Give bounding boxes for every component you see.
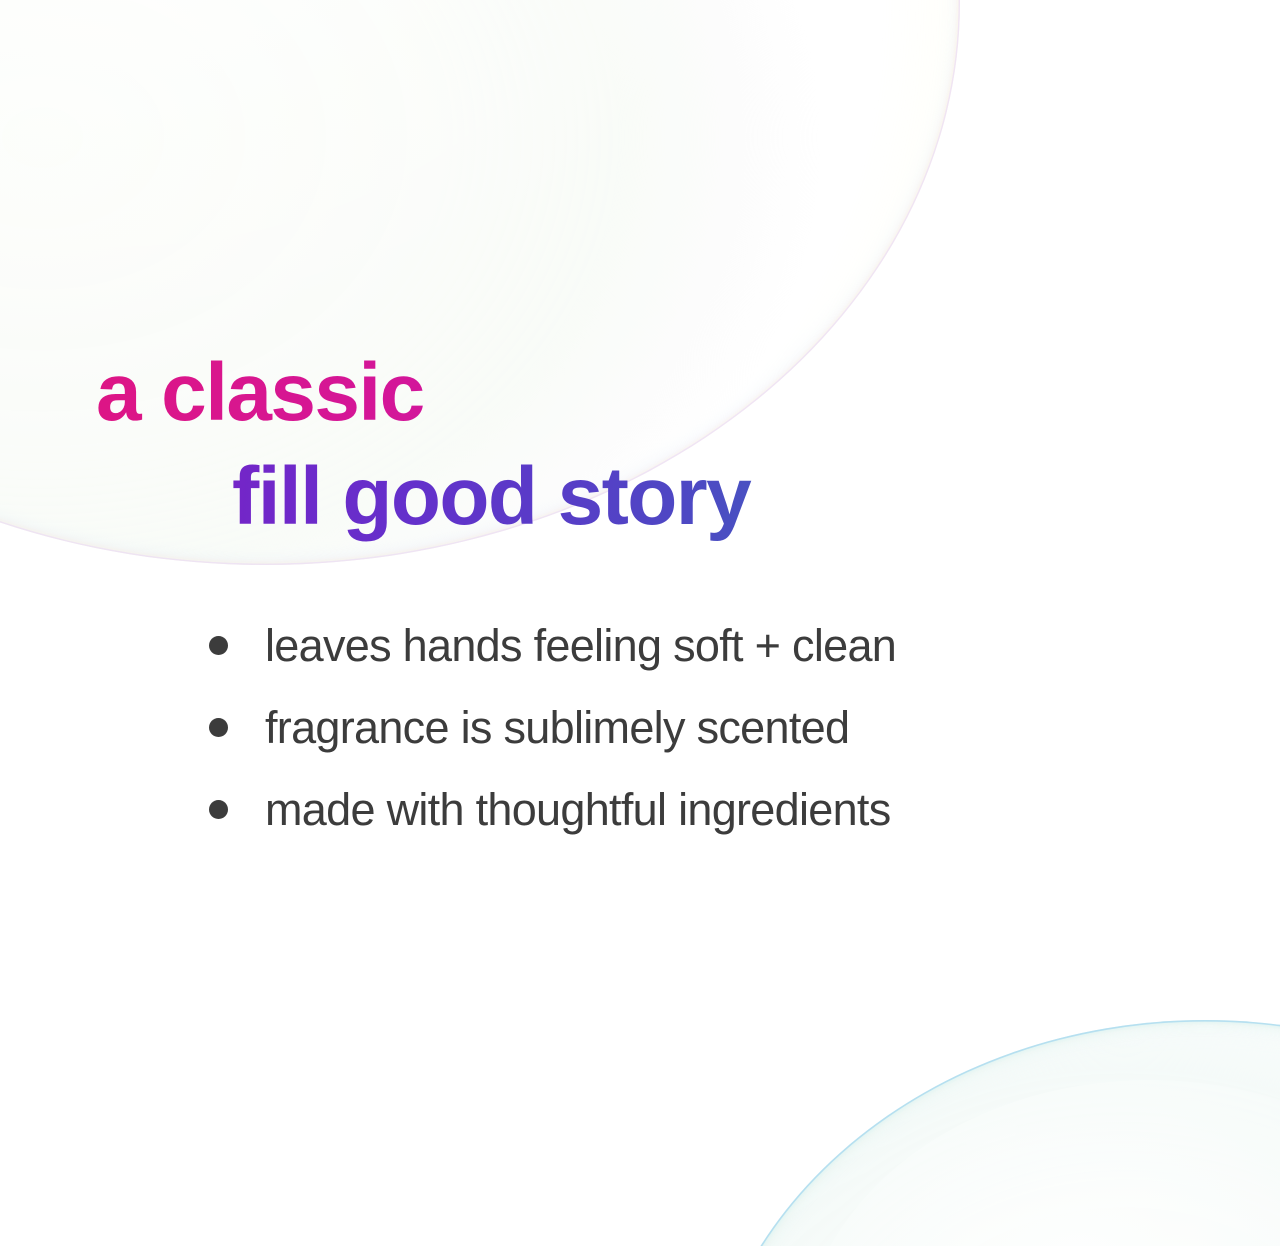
content-area: a classic fill good story leaves hands f… [0, 0, 1280, 1246]
bullet-dot-icon [209, 718, 228, 737]
headline-line-2: fill good story [0, 445, 1280, 549]
bullet-dot-icon [209, 636, 228, 655]
headline-line-1: a classic [0, 341, 1280, 445]
benefits-list: leaves hands feeling soft + clean fragra… [0, 604, 1280, 850]
list-item-label: fragrance is sublimely scented [265, 705, 849, 750]
list-item: fragrance is sublimely scented [0, 686, 1280, 768]
list-item-label: made with thoughtful ingredients [265, 787, 891, 832]
list-item: made with thoughtful ingredients [0, 768, 1280, 850]
list-item: leaves hands feeling soft + clean [0, 604, 1280, 686]
page-title: a classic fill good story [0, 341, 1280, 549]
list-item-label: leaves hands feeling soft + clean [265, 623, 896, 668]
marketing-graphic: a classic fill good story leaves hands f… [0, 0, 1280, 1246]
bullet-dot-icon [209, 800, 228, 819]
